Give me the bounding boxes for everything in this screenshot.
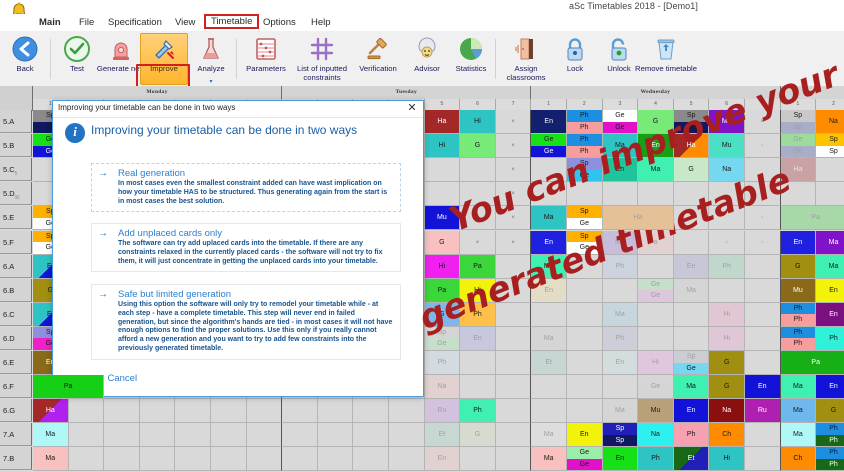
timetable-cell[interactable]	[709, 182, 745, 206]
timetable-cell[interactable]: GeGe	[531, 134, 567, 158]
timetable-cell[interactable]	[745, 279, 781, 303]
ribbon-button-verification[interactable]: Verification	[352, 34, 404, 84]
lesson-card[interactable]: Ph	[781, 314, 816, 326]
menu-item-timetable[interactable]: Timetable	[204, 14, 259, 29]
ribbon-button-advisor[interactable]: Advisor	[404, 34, 450, 84]
lesson-card[interactable]: Ph	[460, 303, 495, 326]
timetable-cell[interactable]: Ma	[603, 303, 639, 327]
lesson-card[interactable]: Sp	[603, 435, 638, 447]
lesson-card[interactable]: Hi	[638, 351, 673, 374]
timetable-cell[interactable]: SpSp	[674, 110, 710, 134]
lesson-card[interactable]: Ma	[674, 279, 709, 302]
timetable-cell[interactable]	[567, 375, 603, 399]
chevron-down-icon[interactable]: ▾	[209, 78, 212, 85]
ribbon-button-list-of-inputted-constraints[interactable]: List of inputted constraints	[294, 34, 350, 84]
timetable-cell[interactable]	[567, 182, 603, 206]
timetable-cell[interactable]: Ma	[638, 158, 674, 182]
timetable-cell[interactable]	[425, 182, 461, 206]
timetable-cell[interactable]: En	[531, 110, 567, 134]
timetable-cell[interactable]: Ge	[638, 375, 674, 399]
timetable-cell[interactable]: GeGe	[781, 134, 817, 158]
timetable-cell[interactable]	[282, 399, 318, 423]
timetable-cell[interactable]	[496, 303, 532, 327]
timetable-cell[interactable]: ×	[496, 134, 532, 158]
timetable-cell[interactable]: En	[674, 255, 710, 279]
lesson-card[interactable]: Sp	[567, 158, 602, 170]
lesson-card[interactable]: Ph	[816, 423, 844, 435]
timetable-cell[interactable]	[211, 399, 247, 423]
timetable-cell[interactable]: Ha	[674, 134, 710, 158]
timetable-cell[interactable]: Ha	[425, 110, 461, 134]
lesson-card[interactable]: Ha	[425, 110, 460, 133]
class-row-header[interactable]: 6.D	[0, 327, 32, 350]
lesson-card[interactable]: G	[709, 375, 744, 398]
timetable-cell[interactable]: G	[709, 375, 745, 399]
ribbon-button-parameters[interactable]: Parameters	[240, 34, 292, 84]
timetable-cell[interactable]: Ru	[425, 399, 461, 423]
timetable-cell[interactable]: G	[638, 110, 674, 134]
lesson-card[interactable]: Sp	[816, 134, 844, 146]
timetable-cell[interactable]	[175, 423, 211, 447]
timetable-cell[interactable]	[318, 399, 354, 423]
timetable-cell[interactable]	[674, 303, 710, 327]
timetable-cell[interactable]	[567, 399, 603, 423]
timetable-cell[interactable]: Ma	[603, 134, 639, 158]
timetable-cell[interactable]: Na	[425, 375, 461, 399]
lesson-card[interactable]: Na	[638, 423, 673, 446]
timetable-cell[interactable]: PhPh	[781, 303, 817, 327]
timetable-cell[interactable]: Ma	[674, 279, 710, 303]
lesson-card[interactable]: Ma	[781, 399, 816, 422]
timetable-cell[interactable]: SpGe	[567, 158, 603, 182]
timetable-cell[interactable]: ×	[496, 182, 532, 206]
timetable-cell[interactable]	[531, 158, 567, 182]
timetable-cell[interactable]	[603, 375, 639, 399]
timetable-cell[interactable]: Mu	[638, 399, 674, 423]
timetable-cell[interactable]: Ma	[709, 110, 745, 134]
timetable-cell[interactable]: En	[567, 423, 603, 447]
timetable-cell[interactable]: Ha	[603, 206, 674, 230]
timetable-cell[interactable]: Ph	[674, 423, 710, 447]
timetable-cell[interactable]: Ch	[709, 423, 745, 447]
lesson-card[interactable]: Ru	[745, 399, 780, 422]
timetable-cell[interactable]: SpGe	[674, 351, 710, 375]
lesson-card[interactable]: Ph	[567, 122, 602, 134]
lesson-card[interactable]: Ma	[531, 206, 566, 229]
timetable-cell[interactable]: En	[638, 134, 674, 158]
lesson-card[interactable]: Ph	[460, 399, 495, 422]
timetable-cell[interactable]: G	[709, 351, 745, 375]
lesson-card[interactable]: Ph	[816, 459, 844, 471]
timetable-cell[interactable]	[638, 255, 674, 279]
lesson-card[interactable]: Ge	[603, 122, 638, 134]
lesson-card[interactable]: En	[781, 231, 816, 254]
timetable-cell[interactable]: En	[816, 303, 844, 327]
timetable-cell[interactable]	[353, 423, 389, 447]
timetable-cell[interactable]: Hi	[425, 255, 461, 279]
menu-bar[interactable]: Main File Specification View Timetable O…	[0, 14, 844, 31]
lesson-card[interactable]: Ge	[425, 338, 460, 350]
timetable-cell[interactable]	[140, 423, 176, 447]
timetable-cell[interactable]	[496, 375, 532, 399]
lesson-card[interactable]: Ph	[567, 110, 602, 122]
timetable-cell[interactable]: Hi	[709, 447, 745, 471]
timetable-cell[interactable]: Hi	[425, 134, 461, 158]
timetable-cell[interactable]: En	[425, 447, 461, 471]
lesson-card[interactable]: Ph	[567, 134, 602, 146]
lesson-card[interactable]: Pa	[781, 206, 844, 229]
timetable-cell[interactable]: ×	[745, 206, 781, 230]
timetable-cell[interactable]	[531, 375, 567, 399]
lesson-card[interactable]: Ph	[603, 327, 638, 350]
lesson-card[interactable]: Hi	[460, 110, 495, 133]
lesson-card[interactable]: Ge	[567, 459, 602, 471]
lesson-card[interactable]: En	[816, 375, 844, 398]
lesson-card[interactable]: Mu	[425, 206, 460, 229]
timetable-cell[interactable]: Ma	[33, 447, 69, 471]
timetable-cell[interactable]: ×	[496, 231, 532, 255]
lesson-card[interactable]: Ma	[781, 423, 816, 446]
timetable-cell[interactable]	[709, 279, 745, 303]
menu-item-help[interactable]: Help	[308, 16, 334, 29]
lesson-card[interactable]: Na	[709, 158, 744, 181]
timetable-cell[interactable]	[496, 399, 532, 423]
timetable-cell[interactable]: GeGe	[603, 110, 639, 134]
lesson-card[interactable]: Ma	[603, 399, 638, 422]
timetable-cell[interactable]: Ma	[816, 231, 844, 255]
timetable-cell[interactable]: Ma	[531, 255, 567, 279]
class-row-header[interactable]: 6.A	[0, 255, 32, 278]
lesson-card[interactable]: Ph	[638, 447, 673, 470]
class-row-header[interactable]: 5.D32	[0, 182, 32, 205]
ribbon-button-assign-classrooms[interactable]: Assign classrooms	[500, 34, 552, 84]
lesson-card[interactable]: Ph	[781, 338, 816, 350]
timetable-cell[interactable]: En	[816, 279, 844, 303]
lesson-card[interactable]: Ma	[816, 255, 844, 278]
lesson-card[interactable]: Ru	[425, 399, 460, 422]
timetable-cell[interactable]	[496, 447, 532, 471]
lesson-card[interactable]: Ma	[638, 158, 673, 181]
timetable-cell[interactable]: Ha	[33, 399, 69, 423]
timetable-cell[interactable]: G	[781, 255, 817, 279]
timetable-cell[interactable]	[709, 206, 745, 230]
timetable-cell[interactable]: Et	[425, 423, 461, 447]
lesson-card[interactable]: Ge	[567, 447, 602, 459]
timetable-cell[interactable]	[745, 447, 781, 471]
timetable-cell[interactable]: Ma	[781, 399, 817, 423]
lesson-card[interactable]: Pa	[781, 351, 844, 374]
timetable-cell[interactable]: Pa	[781, 351, 844, 375]
lesson-card[interactable]: Ge	[674, 363, 709, 375]
lesson-card[interactable]: En	[603, 447, 638, 470]
timetable-cell[interactable]: En	[816, 375, 844, 399]
option-add-unplaced-cards-only[interactable]: → Add unplaced cards only The software c…	[91, 223, 401, 272]
timetable-cell[interactable]: En	[460, 327, 496, 351]
lesson-card[interactable]: Ph	[567, 146, 602, 158]
lesson-card[interactable]: Sp	[425, 327, 460, 339]
timetable-cell[interactable]: G	[425, 303, 461, 327]
timetable-cell[interactable]	[282, 447, 318, 471]
timetable-cell[interactable]: En	[531, 279, 567, 303]
lesson-card[interactable]: Ge	[638, 290, 673, 302]
lesson-card[interactable]: Ge	[603, 110, 638, 122]
timetable-cell[interactable]	[745, 303, 781, 327]
timetable-cell[interactable]: Mu	[425, 206, 461, 230]
timetable-cell[interactable]: Ma	[531, 327, 567, 351]
timetable-cell[interactable]: En	[745, 375, 781, 399]
timetable-cell[interactable]: En	[603, 158, 639, 182]
timetable-cell[interactable]	[567, 279, 603, 303]
lesson-card[interactable]: En	[674, 399, 709, 422]
timetable-cell[interactable]: PhPh	[567, 134, 603, 158]
timetable-cell[interactable]	[638, 182, 674, 206]
class-row-header[interactable]: 6.B	[0, 279, 32, 302]
lesson-card[interactable]: Ge	[567, 242, 602, 254]
lesson-card[interactable]: Ch	[781, 447, 816, 470]
timetable-cell[interactable]: En	[674, 399, 710, 423]
timetable-cell[interactable]	[460, 206, 496, 230]
timetable-cell[interactable]	[211, 423, 247, 447]
lesson-card[interactable]: Ph	[781, 327, 816, 339]
timetable-cell[interactable]	[745, 158, 781, 182]
timetable-cell[interactable]	[460, 375, 496, 399]
ribbon-button-test[interactable]: Test	[54, 34, 100, 84]
timetable-cell[interactable]: SpSp	[603, 423, 639, 447]
lesson-card[interactable]: En	[674, 255, 709, 278]
lesson-card[interactable]: En	[531, 231, 566, 254]
improve-dialog[interactable]: Improving your timetable can be done in …	[52, 100, 424, 397]
menu-item-options[interactable]: Options	[260, 16, 299, 29]
timetable-cell[interactable]: Ma	[781, 423, 817, 447]
timetable-cell[interactable]	[638, 327, 674, 351]
lesson-card[interactable]: Ph	[674, 423, 709, 446]
timetable-cell[interactable]: SpSp	[781, 110, 817, 134]
timetable-cell[interactable]	[745, 255, 781, 279]
timetable-cell[interactable]: Ma	[781, 375, 817, 399]
timetable-cell[interactable]: G	[816, 399, 844, 423]
ribbon-button-remove-timetable[interactable]: Remove timetable	[640, 34, 692, 84]
lesson-card[interactable]: Ph	[425, 351, 460, 374]
lesson-card[interactable]: Ge	[781, 146, 816, 158]
timetable-cell[interactable]	[745, 182, 781, 206]
timetable-cell[interactable]: Ma	[531, 206, 567, 230]
timetable-cell[interactable]: Hi	[460, 279, 496, 303]
timetable-cell[interactable]: Ph	[460, 399, 496, 423]
timetable-cell[interactable]	[140, 399, 176, 423]
lesson-card[interactable]: Ge	[638, 279, 673, 291]
timetable-cell[interactable]: G	[425, 231, 461, 255]
lesson-card[interactable]: Ph	[709, 255, 744, 278]
timetable-cell[interactable]	[745, 327, 781, 351]
timetable-cell[interactable]	[389, 423, 425, 447]
timetable-cell[interactable]	[175, 399, 211, 423]
lesson-card[interactable]: Sp	[674, 110, 709, 122]
timetable-cell[interactable]: GeGe	[567, 447, 603, 471]
class-row-header[interactable]: 7.A	[0, 423, 32, 446]
menu-item-specification[interactable]: Specification	[105, 16, 165, 29]
timetable-cell[interactable]: Hi	[638, 351, 674, 375]
lesson-card[interactable]: Pa	[460, 255, 495, 278]
timetable-cell[interactable]	[567, 351, 603, 375]
timetable-cell[interactable]	[674, 231, 710, 255]
timetable-cell[interactable]	[460, 182, 496, 206]
timetable-cell[interactable]: Ph	[460, 303, 496, 327]
timetable-cell[interactable]	[496, 423, 532, 447]
timetable-cell[interactable]: ×	[496, 158, 532, 182]
lesson-card[interactable]: Ge	[638, 375, 673, 398]
timetable-cell[interactable]	[104, 423, 140, 447]
timetable-cell[interactable]: Na	[638, 423, 674, 447]
timetable-cell[interactable]: G	[674, 158, 710, 182]
timetable-cell[interactable]: Ma	[674, 375, 710, 399]
timetable-cell[interactable]	[460, 158, 496, 182]
timetable-cell[interactable]	[389, 399, 425, 423]
lesson-card[interactable]: Et	[531, 351, 566, 374]
timetable-cell[interactable]	[745, 351, 781, 375]
timetable-cell[interactable]: Hi	[460, 110, 496, 134]
timetable-cell[interactable]: Et	[674, 447, 710, 471]
timetable-cell[interactable]: Pa	[425, 279, 461, 303]
lesson-card[interactable]: Hi	[709, 303, 744, 326]
lesson-card[interactable]: Sp	[781, 122, 816, 134]
timetable-cell[interactable]: Pa	[33, 375, 104, 399]
lesson-card[interactable]: Ma	[33, 447, 68, 470]
timetable-cell[interactable]	[567, 255, 603, 279]
timetable-cell[interactable]: PhPh	[816, 447, 844, 471]
lesson-card[interactable]: Hi	[425, 255, 460, 278]
class-row-header[interactable]: 5.F	[0, 231, 32, 254]
menu-item-main[interactable]: Main	[36, 16, 64, 29]
lesson-card[interactable]: En	[567, 423, 602, 446]
timetable-cell[interactable]	[745, 423, 781, 447]
lesson-card[interactable]: G	[425, 303, 460, 326]
lesson-card[interactable]: Ma	[816, 231, 844, 254]
timetable-cell[interactable]: Et	[531, 351, 567, 375]
lesson-card[interactable]: Ge	[531, 134, 566, 146]
timetable-cell[interactable]	[282, 423, 318, 447]
timetable-cell[interactable]: ×	[496, 110, 532, 134]
timetable-cell[interactable]	[353, 399, 389, 423]
lesson-card[interactable]: En	[638, 134, 673, 157]
timetable-cell[interactable]: ×	[745, 110, 781, 134]
lesson-card[interactable]: Pa	[33, 375, 103, 398]
lesson-card[interactable]: G	[425, 231, 460, 254]
timetable-cell[interactable]	[140, 447, 176, 471]
timetable-cell[interactable]	[104, 399, 140, 423]
lesson-card[interactable]: Sp	[674, 122, 709, 134]
timetable-cell[interactable]	[69, 423, 105, 447]
lesson-card[interactable]: Hi	[709, 447, 744, 470]
timetable-cell[interactable]: PhPh	[816, 423, 844, 447]
timetable-cell[interactable]	[531, 303, 567, 327]
timetable-cell[interactable]: Ma	[531, 423, 567, 447]
timetable-cell[interactable]: Ph	[638, 447, 674, 471]
lesson-card[interactable]: Ch	[709, 423, 744, 446]
timetable-cell[interactable]: Pa	[781, 206, 844, 230]
timetable-cell[interactable]	[496, 327, 532, 351]
lesson-card[interactable]: Mu	[638, 399, 673, 422]
lesson-card[interactable]: Ha	[781, 158, 816, 181]
class-row-header[interactable]: 6.G	[0, 399, 32, 422]
timetable-cell[interactable]: Hi	[709, 303, 745, 327]
timetable-cell[interactable]: Mu	[781, 279, 817, 303]
timetable-cell[interactable]	[603, 279, 639, 303]
timetable-cell[interactable]	[567, 303, 603, 327]
class-row-header[interactable]: 6.C	[0, 303, 32, 326]
lesson-card[interactable]: Ph	[781, 303, 816, 315]
ribbon-button-statistics[interactable]: Statistics	[448, 34, 494, 84]
timetable-cell[interactable]	[460, 351, 496, 375]
lesson-card[interactable]: G	[460, 134, 495, 157]
lesson-card[interactable]: Ha	[603, 206, 673, 229]
timetable-cell[interactable]: Ma	[603, 399, 639, 423]
timetable-cell[interactable]	[69, 447, 105, 471]
timetable-cell[interactable]: ×	[496, 206, 532, 230]
lesson-card[interactable]: Ph	[603, 255, 638, 278]
lesson-card[interactable]: Ge	[567, 218, 602, 230]
lesson-card[interactable]: Sp	[674, 351, 709, 363]
timetable-cell[interactable]: Ma	[531, 447, 567, 471]
timetable-cell[interactable]: Ch	[781, 447, 817, 471]
lesson-card[interactable]: G	[460, 423, 495, 446]
timetable-cell[interactable]: Ru	[745, 399, 781, 423]
lesson-card[interactable]: En	[745, 375, 780, 398]
lesson-card[interactable]: En	[816, 303, 844, 326]
timetable-cell[interactable]: SpGe	[567, 206, 603, 230]
timetable-cell[interactable]: PhPh	[781, 327, 817, 351]
lesson-card[interactable]: Ph	[816, 435, 844, 447]
lesson-card[interactable]: Sp	[781, 110, 816, 122]
timetable-cell[interactable]	[674, 327, 710, 351]
lesson-card[interactable]: G	[709, 351, 744, 374]
timetable-cell[interactable]	[496, 351, 532, 375]
lesson-card[interactable]: G	[638, 110, 673, 133]
timetable-cell[interactable]	[353, 447, 389, 471]
ribbon-button-analyze[interactable]: Analyze ▾	[188, 34, 234, 84]
timetable-cell[interactable]: SpSp	[816, 134, 844, 158]
timetable-cell[interactable]: Na	[709, 399, 745, 423]
timetable-cell[interactable]: Ma	[603, 231, 639, 255]
lesson-card[interactable]: Ma	[33, 423, 68, 446]
lesson-card[interactable]: Ma	[674, 375, 709, 398]
timetable-cell[interactable]	[318, 447, 354, 471]
lesson-card[interactable]: G	[816, 399, 844, 422]
lesson-card[interactable]: Ma	[603, 134, 638, 157]
timetable-cell[interactable]	[211, 447, 247, 471]
option-safe-but-limited-generation[interactable]: → Safe but limited generation Using this…	[91, 284, 401, 360]
lesson-card[interactable]: Ha	[33, 399, 68, 422]
ribbon-button-back[interactable]: Back	[2, 34, 48, 84]
menu-item-view[interactable]: View	[172, 16, 198, 29]
timetable-cell[interactable]	[104, 447, 140, 471]
class-row-header[interactable]: 5.B	[0, 134, 32, 157]
lesson-card[interactable]: Hi	[709, 327, 744, 350]
timetable-cell[interactable]	[674, 206, 710, 230]
class-row-header[interactable]: 6.E	[0, 351, 32, 374]
timetable-cell[interactable]	[247, 423, 283, 447]
timetable-cell[interactable]: Ha	[781, 158, 817, 182]
class-row-header[interactable]: 6.F	[0, 375, 32, 398]
lesson-card[interactable]: En	[460, 327, 495, 350]
lesson-card[interactable]: G	[674, 158, 709, 181]
lesson-card[interactable]: Ge	[781, 134, 816, 146]
timetable-cell[interactable]	[531, 399, 567, 423]
timetable-cell[interactable]	[496, 279, 532, 303]
timetable-cell[interactable]: ×	[745, 231, 781, 255]
timetable-cell[interactable]	[247, 399, 283, 423]
timetable-cell[interactable]	[567, 327, 603, 351]
timetable-cell[interactable]	[425, 158, 461, 182]
